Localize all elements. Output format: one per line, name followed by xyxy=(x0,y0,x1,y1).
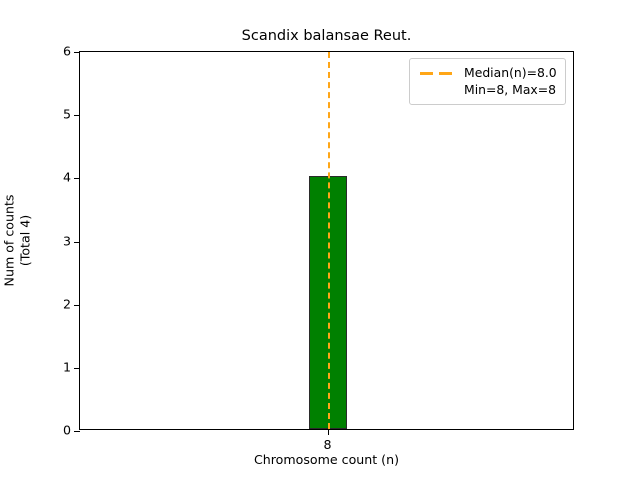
legend: Median(n)=8.0 Min=8, Max=8 xyxy=(409,58,566,105)
y-tick-label: 3 xyxy=(63,235,71,248)
y-tick-mark xyxy=(74,115,80,116)
y-tick-label: 0 xyxy=(63,425,71,438)
x-axis-title: Chromosome count (n) xyxy=(79,452,574,468)
legend-median-line-icon xyxy=(418,65,456,81)
y-tick-mark xyxy=(74,52,80,53)
y-tick-label: 2 xyxy=(63,298,71,311)
y-tick-mark xyxy=(74,178,80,179)
y-tick-label: 5 xyxy=(63,109,71,122)
y-tick-label: 4 xyxy=(63,172,71,185)
x-tick-label: 8 xyxy=(323,439,331,452)
legend-labels: Median(n)=8.0 Min=8, Max=8 xyxy=(464,65,557,98)
plot-inner: 0123456 8 xyxy=(80,52,573,429)
plot-area: 0123456 8 xyxy=(79,51,574,430)
y-tick-label: 1 xyxy=(63,362,71,375)
legend-entry-median: Median(n)=8.0 xyxy=(464,65,557,82)
chart-title: Scandix balansae Reut. xyxy=(79,27,574,45)
y-axis-title-text: Num of counts (Total 4) xyxy=(2,195,33,287)
legend-entry-minmax: Min=8, Max=8 xyxy=(464,82,557,99)
y-tick-mark xyxy=(74,242,80,243)
y-tick-label: 6 xyxy=(63,46,71,59)
x-tick-mark xyxy=(328,429,329,435)
y-tick-mark xyxy=(74,368,80,369)
y-tick-mark xyxy=(74,305,80,306)
y-tick-mark xyxy=(74,431,80,432)
figure-canvas: Scandix balansae Reut. Num of counts (To… xyxy=(0,0,640,480)
median-line xyxy=(328,52,330,429)
y-axis-title: Num of counts (Total 4) xyxy=(0,51,34,430)
